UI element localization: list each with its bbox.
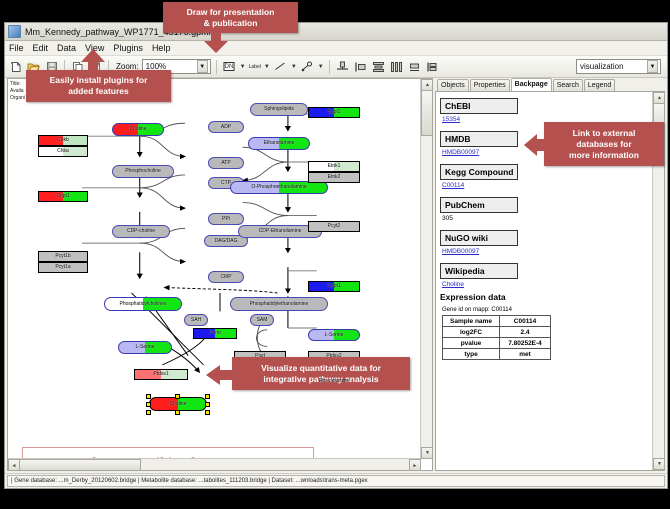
line-chevron-icon[interactable]: ▼ — [291, 64, 297, 70]
new-icon[interactable] — [8, 59, 23, 74]
status-bar-box: | Gene database: ...m_Derby_20120602.bri… — [7, 475, 665, 487]
datanode-icon[interactable]: DN — [222, 59, 237, 74]
tab-objects[interactable]: Objects — [437, 79, 469, 91]
meta-availability-label: Availa — [10, 88, 25, 95]
pathway-drawing[interactable]: Title: Availa Organi — [8, 79, 432, 470]
menu-item-data[interactable]: Data — [57, 43, 76, 53]
expression-key-log2fc: log2FC — [443, 327, 500, 338]
menu-item-help[interactable]: Help — [152, 43, 171, 53]
selection-handle-sw[interactable] — [146, 410, 151, 415]
node-phosphatidylethanolamine[interactable]: Phosphatidylethanolamine — [230, 297, 328, 311]
node-cdp-choline[interactable]: CDP-choline — [112, 225, 170, 238]
node-pcyt1a[interactable]: Pcyt1a — [38, 262, 88, 273]
expression-key-sample-name: Sample name — [443, 316, 500, 327]
size-icon[interactable] — [407, 59, 422, 74]
chevron-down-icon[interactable]: ▼ — [197, 60, 208, 73]
canvas-vertical-scrollbar[interactable]: ▲ ▼ — [420, 79, 432, 459]
db-header-kegg-compound: Kegg Compound — [440, 164, 518, 180]
callout-external-links: Link to external databases for more info… — [544, 122, 664, 166]
expression-table: Sample name C00114 log2FC 2.4 pvalue 7.8… — [442, 315, 551, 360]
db-header-pubchem: PubChem — [440, 197, 518, 213]
node-choline-selected-wrap[interactable]: Choline — [149, 397, 207, 411]
distribute-v-icon[interactable] — [371, 59, 386, 74]
db-header-wikipedia: Wikipedia — [440, 263, 518, 279]
toolbar-separator-3 — [216, 60, 217, 74]
node-pcyt1b[interactable]: Pcyt1b — [38, 251, 88, 262]
panel-scroll-down-icon[interactable]: ▼ — [653, 458, 665, 470]
tab-backpage[interactable]: Backpage — [511, 78, 552, 91]
align-top-icon[interactable] — [335, 59, 350, 74]
gene-id-line: Gene id on mapp: C00114 — [442, 307, 652, 313]
horizontal-scroll-thumb[interactable] — [19, 459, 141, 471]
selection-handle-w[interactable] — [146, 402, 151, 407]
visualization-chevron-down-icon[interactable]: ▼ — [647, 60, 658, 73]
selection-handle-nw[interactable] — [146, 394, 151, 399]
expression-key-type: type — [443, 349, 500, 360]
align-left-icon[interactable] — [353, 59, 368, 74]
toolbar-separator-4 — [329, 60, 330, 74]
callout-draw-presentation-text: Draw for presentation & publication — [182, 4, 280, 32]
node-sah[interactable]: SAH — [184, 314, 208, 326]
node-ptdss1[interactable]: Ptdss1 — [134, 369, 188, 380]
pathway-meta: Title: Availa Organi — [10, 81, 25, 102]
node-chka[interactable]: Chka — [38, 146, 88, 157]
node-etnk2[interactable]: Etnk2 — [308, 172, 360, 183]
selection-handle-se[interactable] — [205, 410, 210, 415]
db-header-chebi: ChEBI — [440, 98, 518, 114]
callout-visualize-arrow-icon — [206, 365, 234, 385]
screenshot-root: Mm_Kennedy_pathway_WP1771_45176.gpml Fil… — [0, 0, 670, 509]
visualization-combo[interactable]: visualization ▼ — [576, 59, 661, 74]
expression-data-title: Expression data — [440, 292, 652, 302]
side-panel-tabs: Objects Properties Backpage Search Legen… — [435, 78, 665, 91]
visualization-value: visualization — [580, 62, 624, 71]
node-pemt[interactable]: Pemt — [193, 328, 237, 339]
node-choline[interactable]: Choline — [112, 123, 164, 136]
selection-handle-s[interactable] — [175, 410, 180, 415]
vertical-scroll-thumb[interactable] — [421, 90, 433, 136]
menu-item-edit[interactable]: Edit — [33, 43, 49, 53]
expression-value-log2fc: 2.4 — [500, 327, 551, 338]
table-row: type met — [443, 349, 551, 360]
node-l-serine-right[interactable]: L-Serine — [308, 329, 360, 341]
node-cmp[interactable]: CMP — [208, 271, 244, 283]
menu-item-plugins[interactable]: Plugins — [113, 43, 143, 53]
status-bar: | Gene database: ...m_Derby_20120602.bri… — [5, 473, 667, 488]
distribute-h-icon[interactable] — [389, 59, 404, 74]
node-sphingolipids[interactable]: Sphingolipids — [250, 103, 308, 116]
callout-visualize-data: Visualize quantitative data for integrat… — [232, 357, 410, 390]
node-chkb[interactable]: Chkb — [38, 135, 88, 146]
db-link-nugo-wiki[interactable]: HMDB00097 — [442, 248, 652, 255]
node-choline-selected[interactable]: Choline — [149, 397, 207, 411]
node-sam[interactable]: SAM — [250, 314, 274, 326]
pathway-canvas[interactable]: Title: Availa Organi — [7, 78, 433, 471]
selection-handle-n[interactable] — [175, 394, 180, 399]
db-header-nugo-wiki: NuGO wiki — [440, 230, 518, 246]
node-chpt1[interactable]: Chpt1 — [38, 191, 88, 202]
label-icon[interactable]: Label — [249, 64, 261, 70]
callout-draw-presentation: Draw for presentation & publication — [163, 2, 298, 33]
datanode-chevron-icon[interactable]: ▼ — [240, 64, 246, 70]
tab-search[interactable]: Search — [553, 79, 583, 91]
db-header-hmdb: HMDB — [440, 131, 518, 147]
meta-title-label: Title: — [10, 81, 25, 88]
callout-plugins-arrow-icon — [80, 48, 106, 72]
node-sgpl1[interactable]: Sgpl1 — [308, 107, 360, 118]
menu-item-file[interactable]: File — [9, 43, 24, 53]
db-link-kegg-compound[interactable]: C00114 — [442, 182, 652, 189]
node-pcyt2[interactable]: Pcyt2 — [308, 221, 360, 232]
app-icon — [8, 25, 21, 38]
expression-value-sample-name: C00114 — [500, 316, 551, 327]
interaction-icon[interactable] — [300, 59, 315, 74]
callout-links-arrow-icon — [524, 134, 546, 156]
node-atp[interactable]: ATP — [208, 157, 244, 169]
tab-legend[interactable]: Legend — [584, 79, 615, 91]
node-phosphatidylcholines[interactable]: Phosphatidylcholines — [104, 297, 182, 311]
scroll-right-icon[interactable]: ► — [409, 459, 421, 471]
selection-handle-e[interactable] — [205, 402, 210, 407]
callout-draw-arrow-icon — [203, 32, 229, 54]
tab-properties[interactable]: Properties — [470, 79, 510, 91]
node-cept1[interactable]: Cept1 — [308, 281, 360, 292]
node-adp[interactable]: ADP — [208, 121, 244, 133]
title-bar: Mm_Kennedy_pathway_WP1771_45176.gpml — [5, 23, 667, 41]
db-link-wikipedia[interactable]: Choline — [442, 281, 652, 288]
node-l-serine-left[interactable]: L-Serine — [118, 341, 172, 354]
callout-install-plugins: Easily install plugins for added feature… — [26, 70, 171, 102]
callout-install-plugins-text: Easily install plugins for added feature… — [45, 72, 153, 100]
node-phosphocholine[interactable]: Phosphocholine — [112, 165, 174, 178]
callout-external-links-text: Link to external databases for more info… — [564, 125, 644, 164]
canvas-horizontal-scrollbar[interactable]: ◄ ► — [8, 458, 421, 470]
db-value-pubchem: 305 — [442, 215, 652, 222]
node-ppi[interactable]: PPi — [208, 213, 244, 225]
status-bar-text: | Gene database: ...m_Derby_20120602.bri… — [11, 478, 368, 484]
scroll-down-icon[interactable]: ▼ — [421, 447, 433, 459]
interaction-chevron-icon[interactable]: ▼ — [318, 64, 324, 70]
table-row: log2FC 2.4 — [443, 327, 551, 338]
node-etnk1[interactable]: Etnk1 — [308, 161, 360, 172]
table-row: Sample name C00114 — [443, 316, 551, 327]
label-chevron-icon[interactable]: ▼ — [264, 64, 270, 70]
table-row: pvalue 7.80252E-4 — [443, 338, 551, 349]
expression-key-pvalue: pvalue — [443, 338, 500, 349]
svg-text:DN: DN — [225, 64, 234, 70]
node-ethanolamine[interactable]: Ethanolamine — [248, 137, 310, 150]
stack-icon[interactable] — [425, 59, 440, 74]
meta-organism-label: Organi — [10, 95, 25, 102]
selection-handle-ne[interactable] — [205, 394, 210, 399]
expression-value-pvalue: 7.80252E-4 — [500, 338, 551, 349]
expression-value-type: met — [500, 349, 551, 360]
line-icon[interactable] — [273, 59, 288, 74]
